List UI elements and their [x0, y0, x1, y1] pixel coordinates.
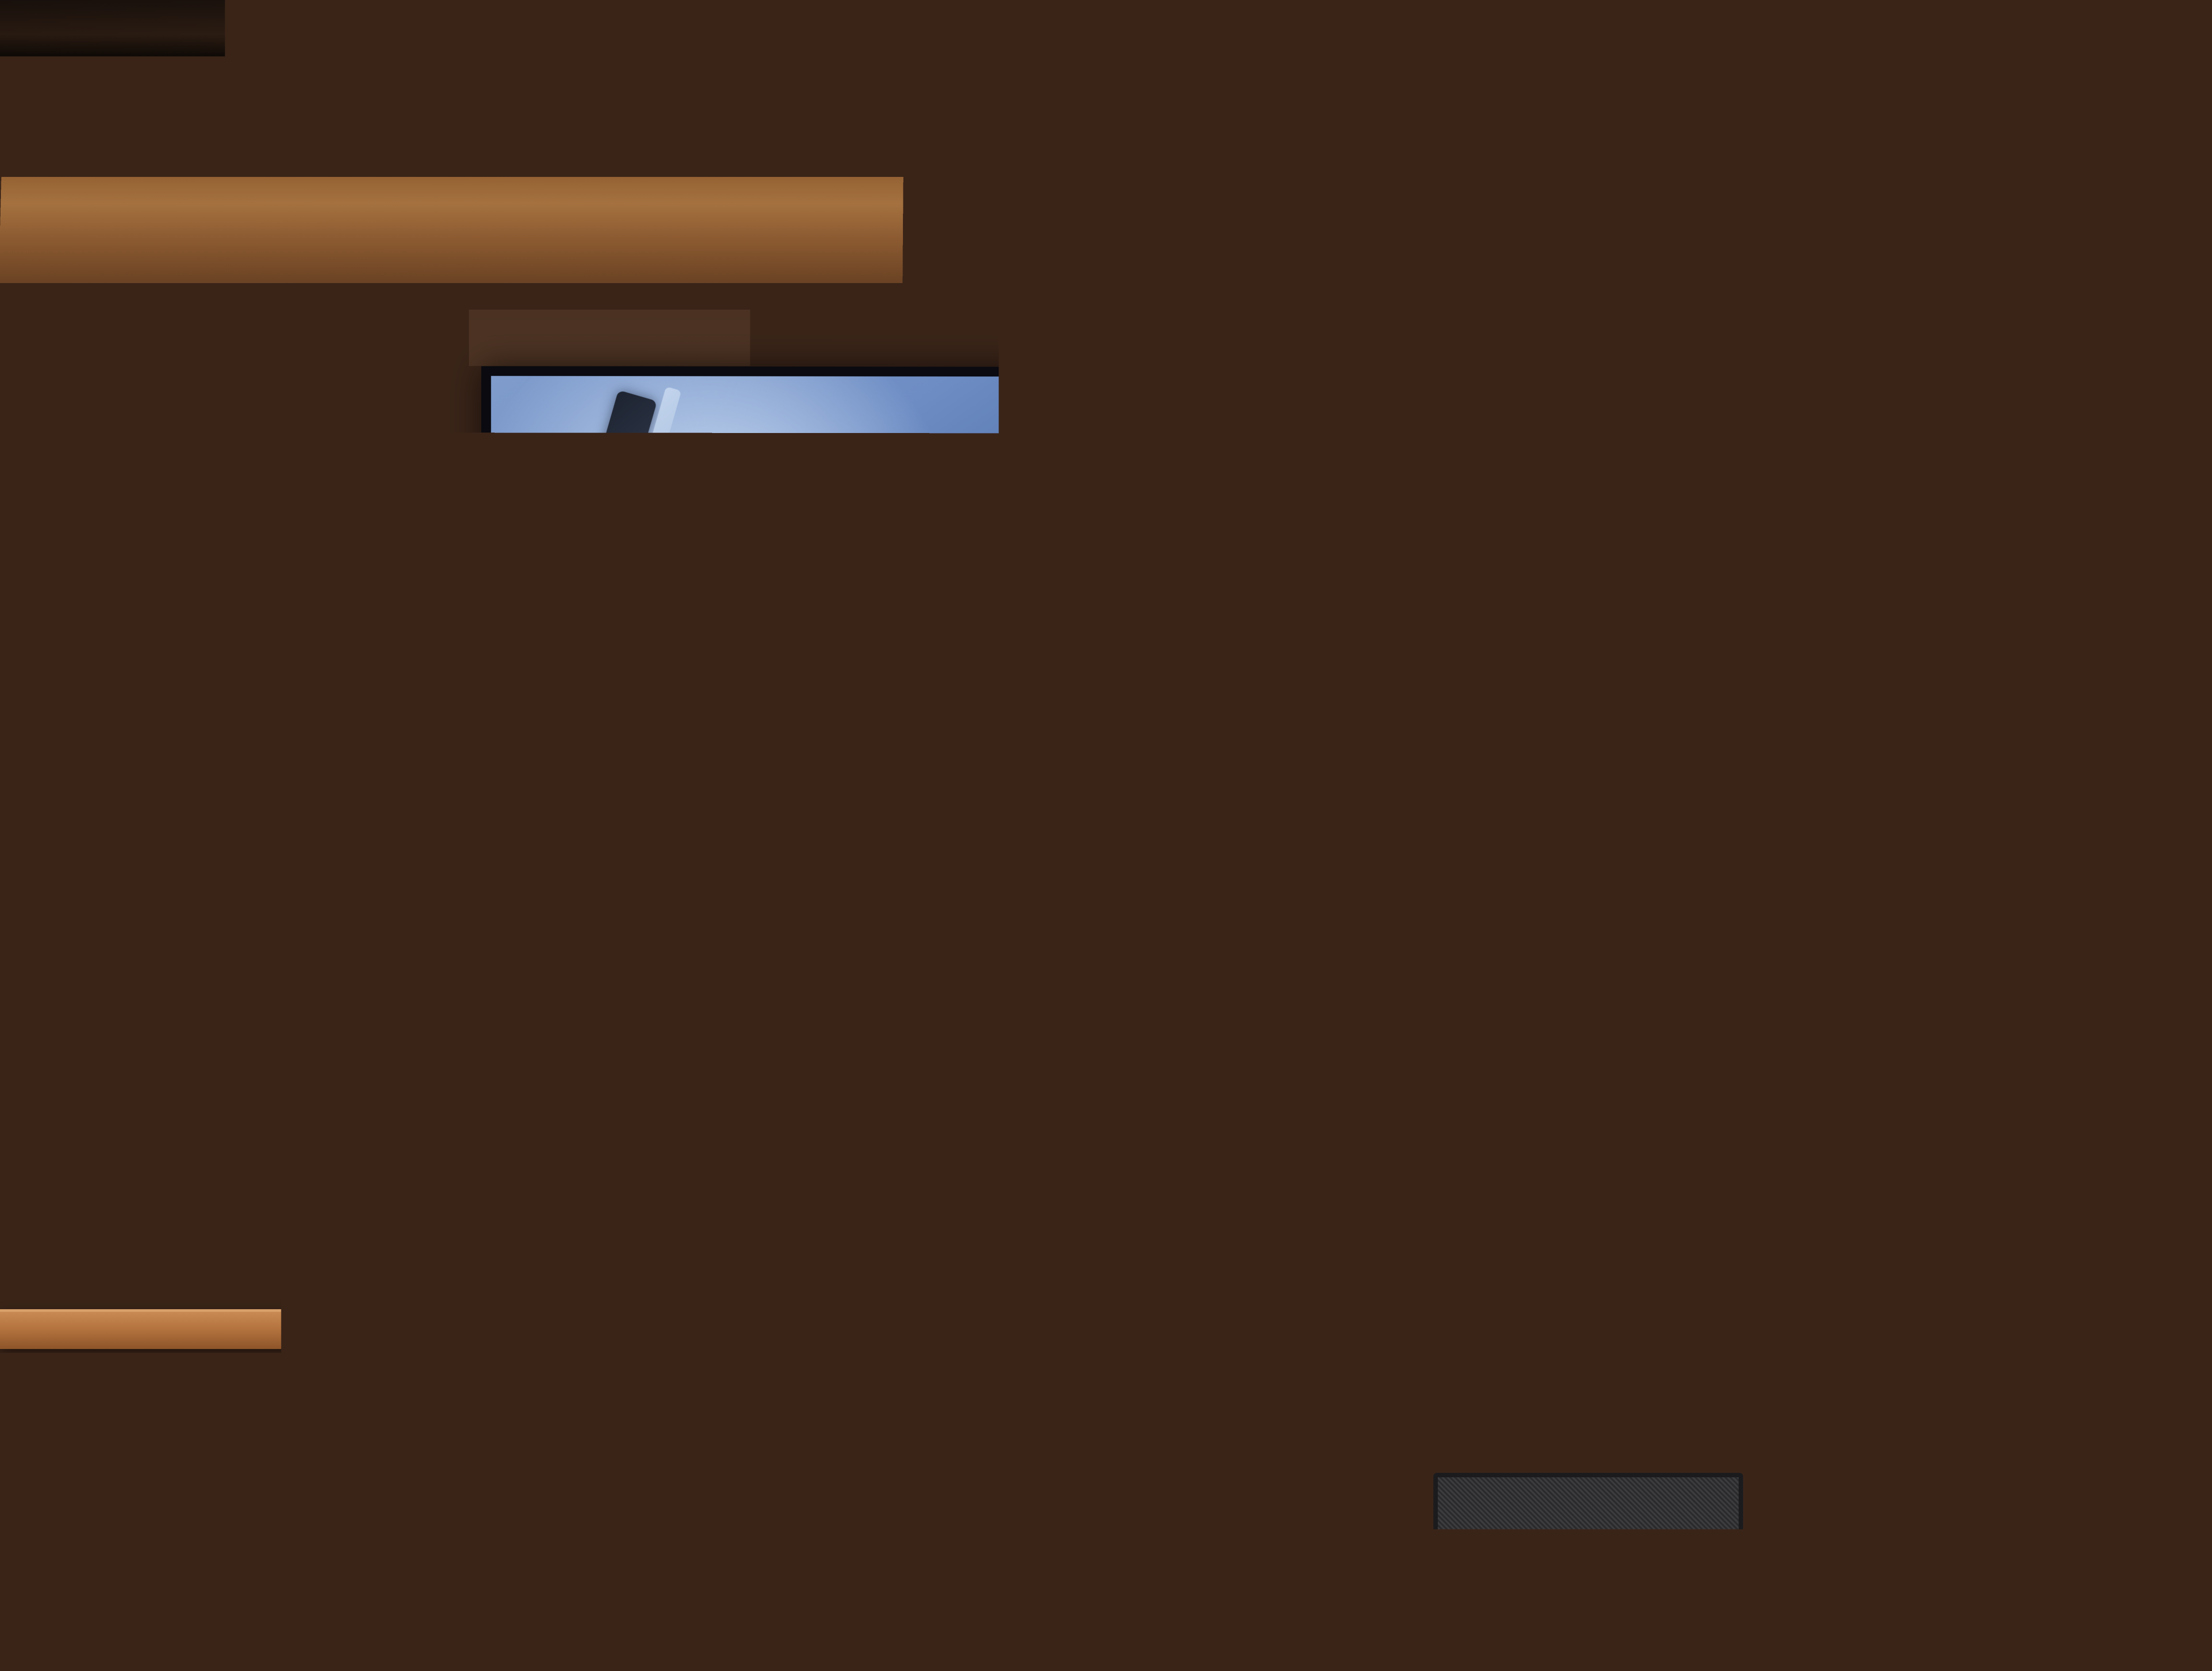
- green-triangle-icon: [1851, 394, 1905, 437]
- audience-torso-foreground: [1394, 1530, 1836, 1671]
- topic-title-chinese: 欧洲前沿制造技术简介: [1154, 881, 1654, 952]
- bottle-label: [1969, 1414, 2001, 1457]
- microphone-indicator-light: [559, 846, 569, 855]
- audience-torso: [739, 1115, 911, 1243]
- cyan-triangle-outline-icon: [1909, 423, 1972, 471]
- jacket-placket-trim: [490, 887, 502, 940]
- ptz-camera: [2034, 778, 2101, 859]
- lapel-indicator-light: [447, 898, 456, 907]
- audience-torso-foreground: [0, 1477, 292, 1671]
- lecture-hall-scene: 机械总院集团2018年第四期周五大讲堂 机械总院集团青年创新创业行动 ——周五大…: [0, 0, 2212, 1671]
- paper-on-desk: [387, 1561, 494, 1592]
- slide-title: 机械总院集团青年创新创业行动: [964, 456, 1781, 540]
- water-bottle: [1969, 1362, 2001, 1473]
- camera-base: [2044, 831, 2100, 854]
- bottle-label: [1636, 1172, 1662, 1206]
- topic-label-badge: 报告题目: [918, 908, 1064, 964]
- podium-top: [376, 973, 606, 1025]
- water-bottle: [1636, 1130, 1662, 1219]
- bottle-label: [1180, 1180, 1206, 1214]
- speaker-name: Professor Brian Andrew Shaw: [1131, 703, 1844, 757]
- water-bottle: [1180, 1138, 1206, 1226]
- bottle-label: [668, 1326, 701, 1368]
- audience-torso-foreground: [911, 1415, 1265, 1671]
- bottle-label: [698, 1178, 724, 1212]
- jacket-pocket-trim-left: [438, 912, 486, 938]
- led-banner-text: 机械总院集团2018年第四期周五大讲堂: [309, 39, 2212, 145]
- presenter-hair: [454, 799, 534, 856]
- speaker-label-badge: 主讲人: [918, 707, 1034, 763]
- jacket-pocket-trim-right: [507, 912, 555, 938]
- chair-back: [363, 1526, 646, 1671]
- bottle-label: [526, 1492, 559, 1534]
- audience-torso: [447, 1221, 677, 1380]
- topic-title-english: Introduction of advanced manufacturing t…: [1162, 980, 1769, 1049]
- slide-subtitle: ——周五大讲堂: [1535, 593, 1905, 669]
- water-bottle: [698, 1137, 724, 1225]
- presentation-slide: 机械总院集团青年创新创业行动 ——周五大讲堂 主讲人 Professor Bri…: [491, 376, 2011, 1137]
- water-bottle: [526, 1440, 559, 1550]
- camera-lens-icon: [2057, 792, 2084, 817]
- projection-screen: 机械总院集团青年创新创业行动 ——周五大讲堂 主讲人 Professor Bri…: [481, 366, 2021, 1146]
- water-bottle: [668, 1274, 701, 1384]
- led-banner: 机械总院集团2018年第四期周五大讲堂: [145, 12, 2212, 172]
